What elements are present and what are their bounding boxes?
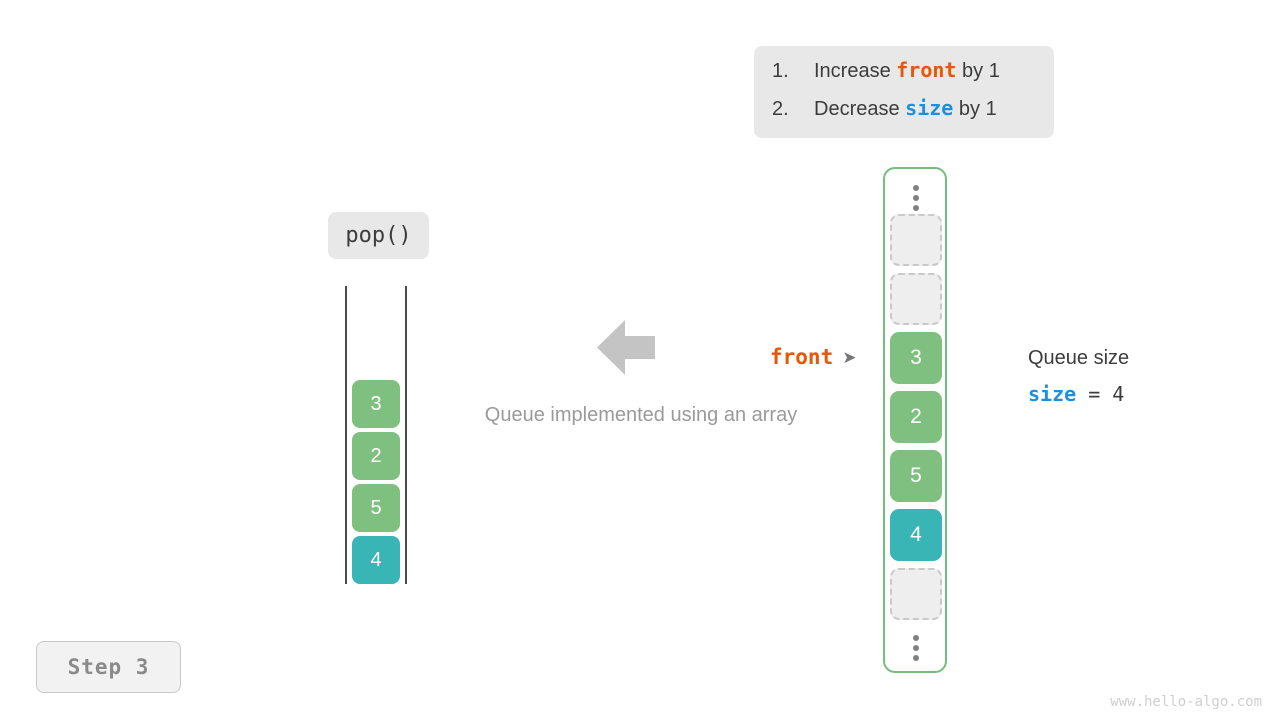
front-pointer-arrow-icon: ➤	[842, 349, 856, 366]
instruction-item-2: 2. Decrease size by 1	[754, 96, 1054, 134]
instruction-text-2-before: Decrease	[814, 98, 905, 121]
array-rail-left	[345, 286, 347, 584]
queue-slot-filled: 5	[890, 450, 942, 502]
left-arrow-icon	[597, 320, 655, 375]
left-queue-array: 3 2 5 4	[344, 286, 410, 586]
left-cell: 5	[352, 484, 400, 532]
left-cell: 2	[352, 432, 400, 480]
instruction-text-1-after: by 1	[956, 60, 999, 83]
queue-slot-empty	[890, 273, 942, 325]
instruction-callout: 1. Increase front by 1 2. Decrease size …	[754, 46, 1054, 138]
ellipsis-dots-top	[912, 185, 919, 211]
left-cell: 3	[352, 380, 400, 428]
queue-size-title: Queue size	[1028, 343, 1129, 373]
instruction-item-1: 1. Increase front by 1	[754, 58, 1054, 96]
array-rail-right	[405, 286, 407, 584]
instruction-number-1: 1.	[772, 60, 814, 83]
instruction-number-2: 2.	[772, 98, 814, 121]
size-value: 4	[1112, 382, 1124, 406]
queue-size-annotation: Queue size size = 4	[1028, 343, 1129, 407]
queue-size-expression: size = 4	[1028, 381, 1129, 407]
watermark: www.hello-algo.com	[1110, 694, 1262, 710]
size-variable-name: size	[1028, 382, 1076, 406]
ellipsis-dots-bottom	[912, 635, 919, 661]
instruction-text-1-before: Increase	[814, 60, 896, 83]
instruction-code-front: front	[896, 58, 956, 82]
queue-slot-filled: 2	[890, 391, 942, 443]
diagram-caption: Queue implemented using an array	[455, 404, 827, 427]
front-pointer-label: front	[770, 345, 833, 369]
size-equals: =	[1076, 382, 1112, 406]
instruction-code-size: size	[905, 96, 953, 120]
front-pointer-annotation: front ➤	[770, 345, 856, 369]
pop-operation-label: pop()	[328, 212, 429, 259]
queue-slot-empty	[890, 568, 942, 620]
step-badge: Step 3	[36, 641, 181, 693]
queue-slot-highlighted: 4	[890, 509, 942, 561]
queue-slot-empty	[890, 214, 942, 266]
diagram-canvas: 1. Increase front by 1 2. Decrease size …	[0, 0, 1280, 720]
queue-array-container: 3 2 5 4	[883, 167, 947, 673]
queue-slot-filled: 3	[890, 332, 942, 384]
instruction-text-2-after: by 1	[953, 98, 996, 121]
left-cell-stack: 3 2 5 4	[352, 376, 400, 584]
left-cell: 4	[352, 536, 400, 584]
